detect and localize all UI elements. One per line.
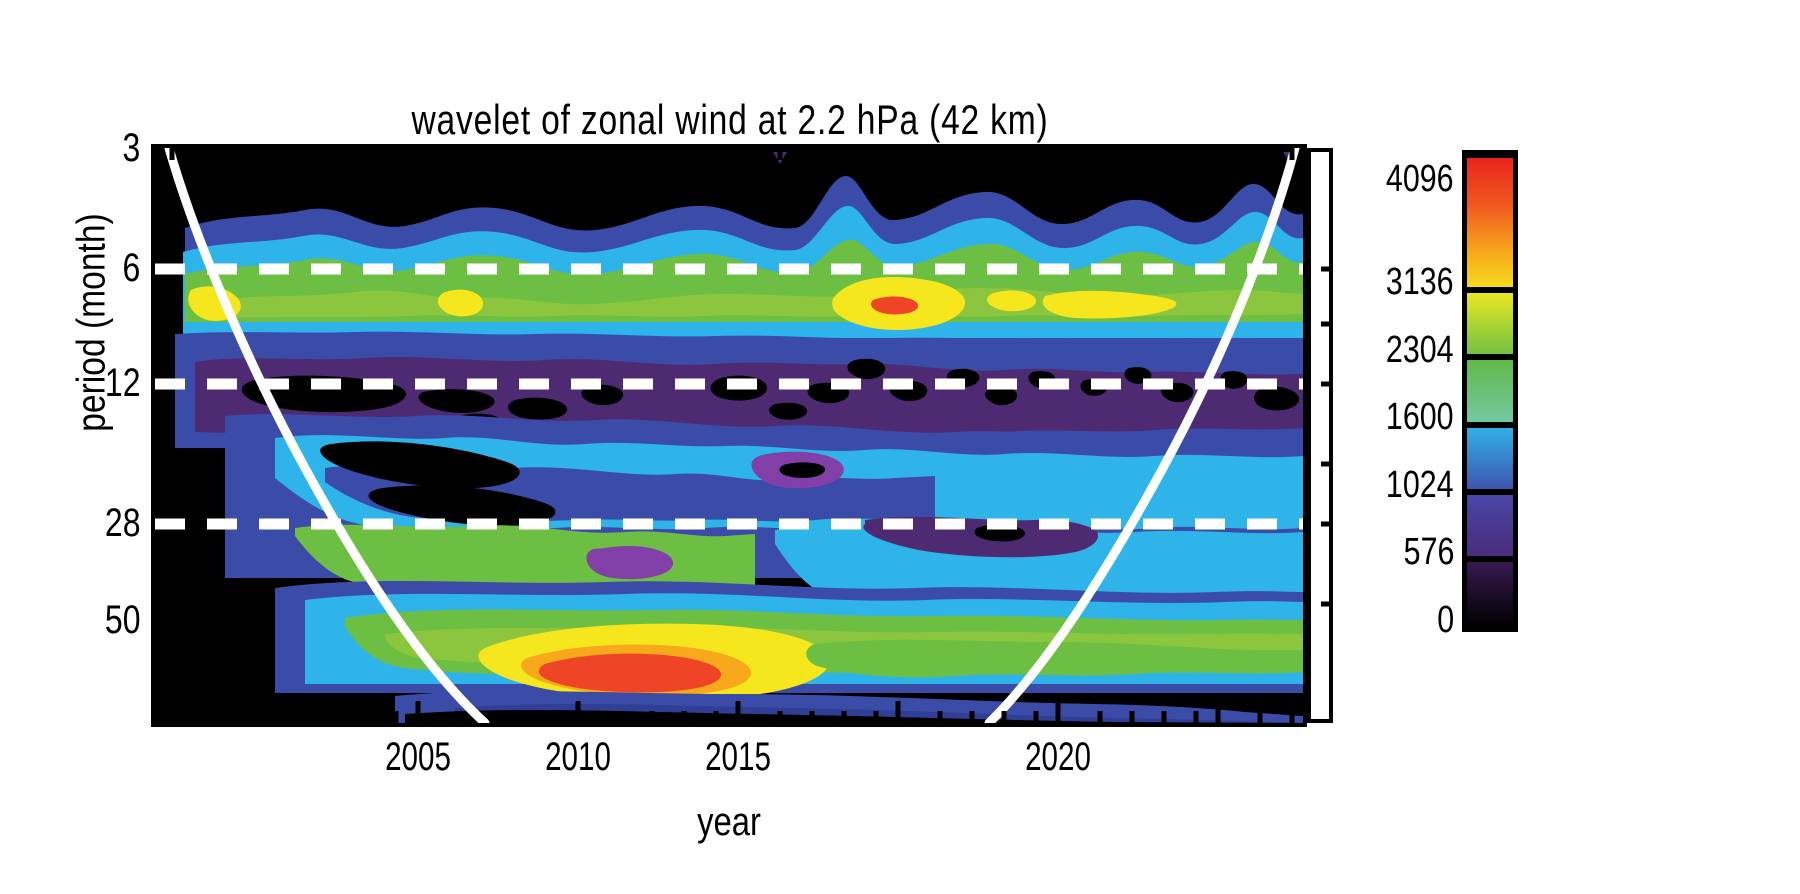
x-axis-tick-labels: 2005 2010 2015 2020 (155, 735, 1303, 791)
x-tick-label-2005: 2005 (385, 735, 451, 779)
colorbar-divider-2304 (1462, 354, 1518, 360)
cone-of-influence-left (169, 148, 485, 723)
y-axis-tick-labels: 3 6 12 28 50 (40, 148, 140, 723)
colorbar-band-1024-1600 (1467, 425, 1513, 492)
colorbar-label-1600: 1600 (1386, 398, 1454, 436)
colorbar-band-576-1024 (1467, 492, 1513, 559)
y-tick-label-28: 28 (104, 503, 140, 543)
colorbar-band-2304-3136 (1467, 290, 1513, 357)
colorbar-band-1600-2304 (1467, 357, 1513, 425)
colorbar-label-1024: 1024 (1386, 466, 1454, 504)
colorbar-label-3136: 3136 (1386, 263, 1454, 301)
y-tick-label-12: 12 (104, 363, 140, 403)
chart-title: wavelet of zonal wind at 2.2 hPa (42 km) (270, 96, 1190, 144)
colorbar (1462, 150, 1518, 632)
colorbar-divider-576 (1462, 556, 1518, 562)
colorbar-divider-bottom (1462, 624, 1518, 630)
plot-area (155, 148, 1303, 723)
colorbar-tick-labels: 4096 3136 2304 1600 1024 576 0 (1330, 150, 1454, 622)
colorbar-divider-1024 (1462, 489, 1518, 495)
colorbar-divider-top (1462, 152, 1518, 158)
colorbar-divider-3136 (1462, 287, 1518, 293)
x-tick-label-2020: 2020 (1025, 735, 1091, 779)
colorbar-label-4096: 4096 (1386, 160, 1454, 198)
contour-field (155, 148, 1303, 723)
colorbar-band-0-576 (1467, 559, 1513, 627)
x-tick-label-2010: 2010 (545, 735, 611, 779)
colorbar-band-3136-4096 (1467, 155, 1513, 290)
y-tick-label-6: 6 (122, 248, 140, 288)
colorbar-label-0: 0 (1437, 601, 1454, 639)
colorbar-divider-1600 (1462, 422, 1518, 428)
x-tick-label-2015: 2015 (705, 735, 771, 779)
y-tick-label-3: 3 (122, 128, 140, 168)
y-tick-label-50: 50 (104, 600, 140, 640)
colorbar-label-2304: 2304 (1386, 331, 1454, 369)
cone-of-influence-right (989, 148, 1295, 723)
wavelet-power-heatmap (155, 148, 1303, 723)
colorbar-label-576: 576 (1403, 533, 1454, 571)
x-axis-title: year (258, 800, 1199, 845)
wavelet-figure: wavelet of zonal wind at 2.2 hPa (42 km)… (0, 0, 1800, 894)
